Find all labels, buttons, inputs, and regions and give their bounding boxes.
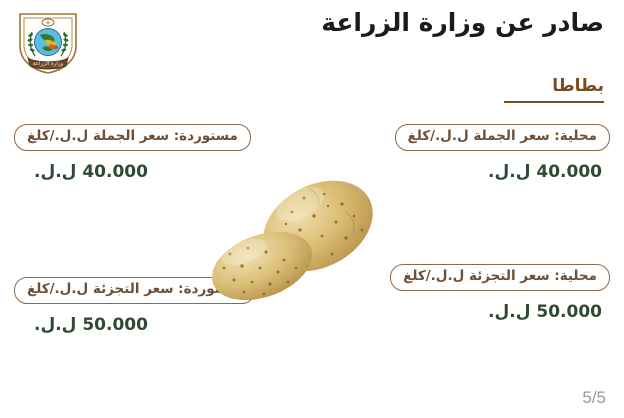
- infographic-page: وزارة الزراعة صادر عن وزارة الزراعة بطاط…: [0, 0, 624, 418]
- page-counter: 5/5: [582, 388, 606, 408]
- page-title: صادر عن وزارة الزراعة: [174, 8, 604, 37]
- svg-text:وزارة الزراعة: وزارة الزراعة: [33, 61, 64, 67]
- imported-wholesale-label: مستوردة: سعر الجملة ل.ل./كلغ: [14, 124, 251, 151]
- potato-photo-icon: [196, 168, 396, 308]
- price-block-local-wholesale: محلية: سعر الجملة ل.ل./كلغ 40.000 ل.ل.: [395, 124, 610, 182]
- product-name-label: بطاطا: [504, 76, 604, 103]
- product-name-heading: بطاطا: [404, 76, 604, 103]
- local-wholesale-value: 40.000 ل.ل.: [395, 162, 602, 182]
- price-block-local-retail: محلية: سعر التجزئة ل.ل./كلغ 50.000 ل.ل.: [390, 264, 610, 322]
- imported-retail-value: 50.000 ل.ل.: [34, 315, 255, 335]
- local-wholesale-label: محلية: سعر الجملة ل.ل./كلغ: [395, 124, 610, 151]
- local-retail-value: 50.000 ل.ل.: [390, 302, 602, 322]
- ministry-shield-emblem-icon: وزارة الزراعة: [12, 10, 84, 76]
- local-retail-label: محلية: سعر التجزئة ل.ل./كلغ: [390, 264, 610, 291]
